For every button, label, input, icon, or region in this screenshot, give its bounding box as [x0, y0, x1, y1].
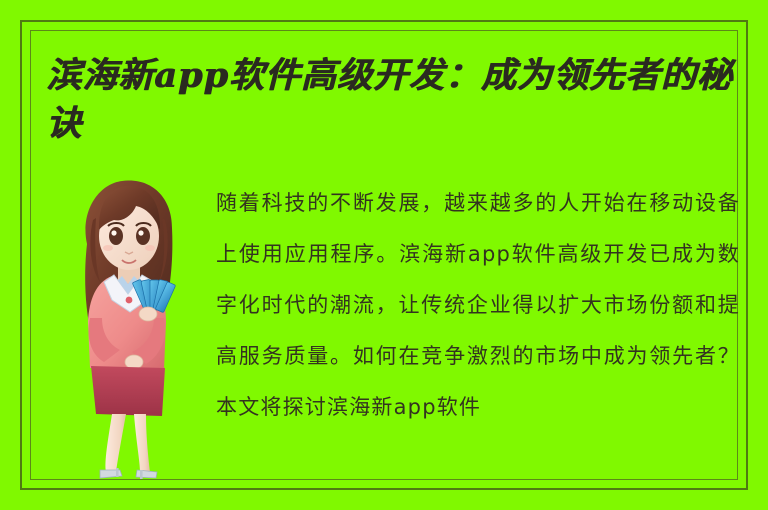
hand-upper — [139, 307, 157, 321]
skirt — [91, 366, 165, 416]
heel-right — [140, 470, 143, 479]
eye-left-highlight — [111, 230, 116, 235]
leg-left — [105, 414, 126, 472]
blush-right — [145, 245, 155, 251]
hand-lower — [125, 355, 143, 369]
eye-left — [109, 227, 123, 245]
poster-title: 滨海新app软件高级开发：成为领先者的秘诀 — [46, 52, 746, 148]
shoe-right — [136, 470, 157, 478]
shoe-left — [100, 470, 122, 478]
blush-left — [103, 245, 113, 251]
leg-right — [134, 414, 150, 472]
collar-brooch — [126, 297, 133, 304]
poster-body-text: 随着科技的不断发展，越来越多的人开始在移动设备上使用应用程序。滨海新app软件高… — [216, 178, 740, 478]
heel-left — [116, 468, 119, 477]
eye-right-highlight — [138, 230, 143, 235]
poster-canvas: 滨海新app软件高级开发：成为领先者的秘诀 随着科技的不断发展，越来越多的人开始… — [0, 0, 768, 510]
eye-right — [136, 227, 150, 245]
anime-girl-holding-money-illustration — [60, 172, 205, 482]
